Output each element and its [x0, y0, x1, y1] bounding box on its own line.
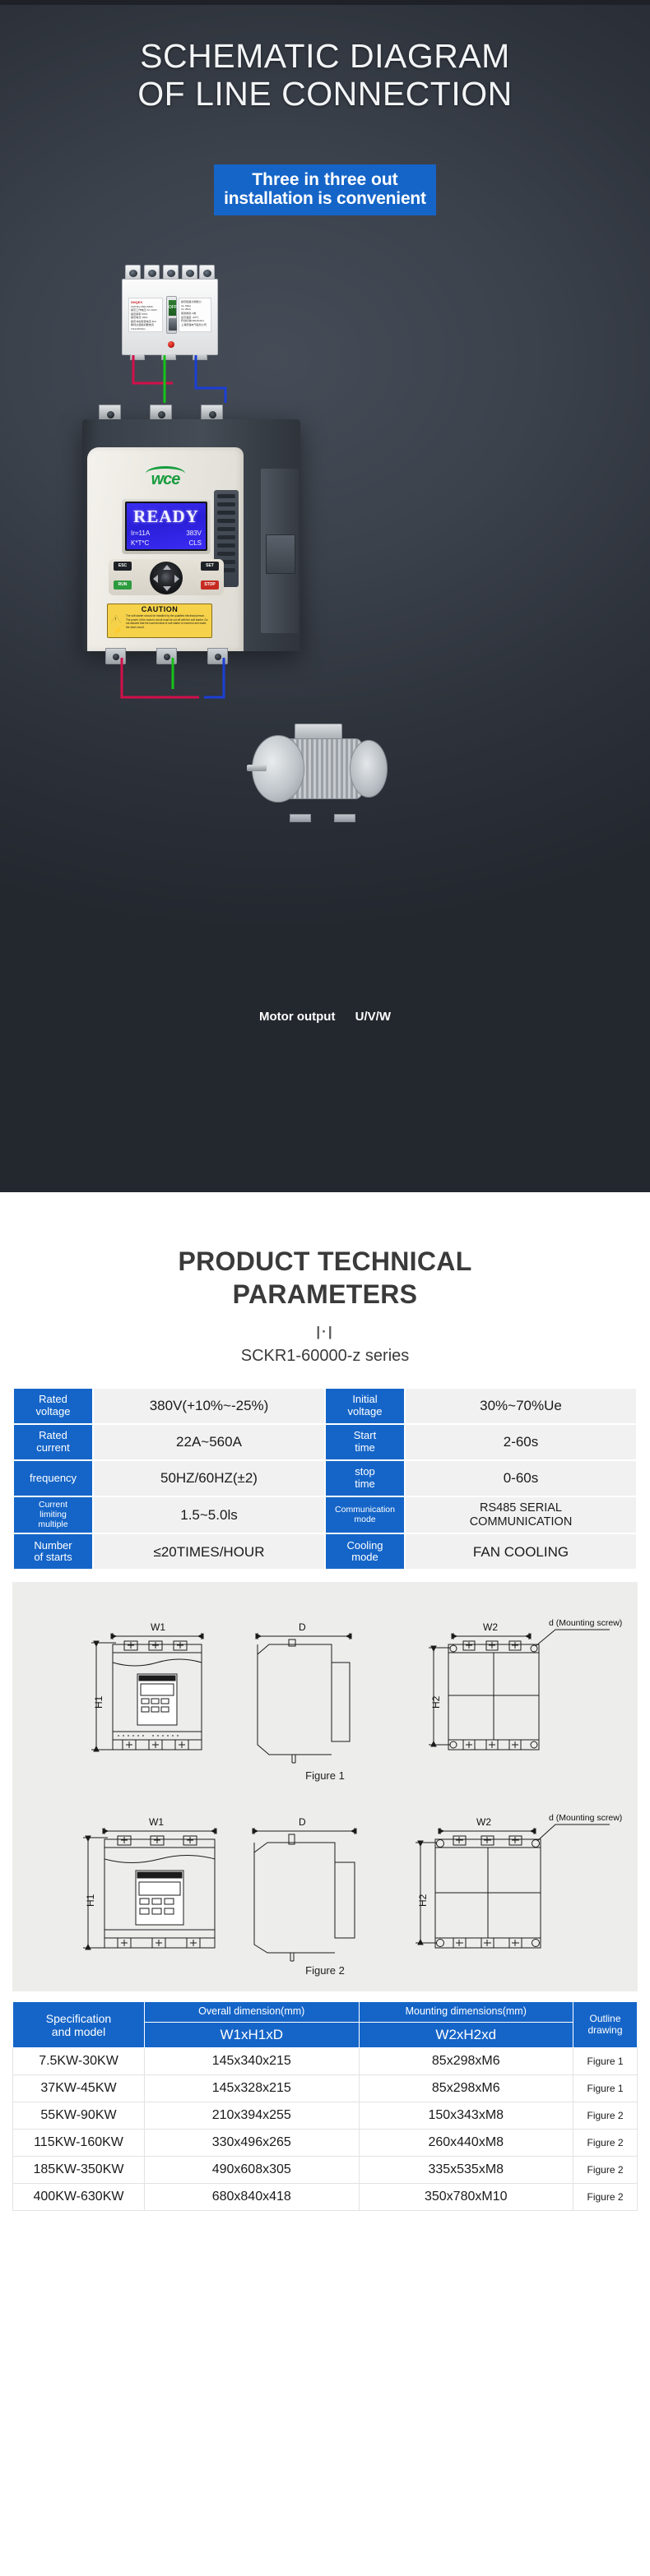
- hero-banner: Three in three out installation is conve…: [214, 164, 436, 215]
- dim-label-d-fig2: D: [299, 1816, 306, 1828]
- cell-model: 55KW-90KW: [13, 2102, 145, 2130]
- arrow-right-icon[interactable]: [174, 575, 179, 583]
- starter-housing: wce READY Ir=11A 383V K*T*C CLS: [82, 419, 300, 651]
- specs-divider-ornament: |·|: [0, 1324, 650, 1340]
- run-button[interactable]: RUN: [114, 580, 132, 590]
- figure-1-caption: Figure 1: [12, 1769, 638, 1782]
- param-row: Ratedvoltage380V(+10%~-25%)Initialvoltag…: [14, 1389, 636, 1423]
- specs-heading-line2: PARAMETERS: [233, 1279, 418, 1309]
- breaker-indicator-light: [168, 341, 174, 348]
- motor-rear-housing: [350, 740, 388, 798]
- figure-2-svg: [12, 1788, 638, 1963]
- table-row: 185KW-350KW490x608x305335x535xM8Figure 2: [13, 2157, 638, 2184]
- header-overall-dimension: Overall dimension(mm): [145, 2002, 360, 2023]
- dimension-table: Specificationand model Overall dimension…: [12, 2001, 638, 2211]
- wire-blue-top: [196, 355, 225, 403]
- param-label-left: Numberof starts: [14, 1534, 92, 1569]
- display-mode: K*T*C: [131, 539, 149, 547]
- dim-label-h1-fig2: H1: [85, 1894, 96, 1907]
- brand-logo: wce: [87, 470, 244, 489]
- cell-figure: Figure 2: [573, 2130, 638, 2157]
- breaker-switch-knob: [169, 318, 177, 331]
- motor-output-caption: Motor output U/V/W: [0, 1010, 650, 1024]
- param-value-right: RS485 SERIALCOMMUNICATION: [406, 1497, 636, 1533]
- specs-heading: PRODUCT TECHNICAL PARAMETERS: [0, 1245, 650, 1311]
- motor-output-label: Motor output: [259, 1010, 335, 1024]
- motor-phase-label: U/V/W: [355, 1010, 391, 1024]
- param-row: frequency50HZ/60HZ(±2)stoptime0-60s: [14, 1461, 636, 1496]
- dimension-table-header-row-1: Specificationand model Overall dimension…: [13, 2002, 638, 2023]
- dimension-table-head: Specificationand model Overall dimension…: [13, 2002, 638, 2048]
- param-label-right: Coolingmode: [326, 1534, 404, 1569]
- param-value-left: 50HZ/60HZ(±2): [94, 1461, 324, 1496]
- dim-label-h2-fig2: H2: [417, 1894, 429, 1907]
- cell-overall: 145x340x215: [145, 2048, 360, 2075]
- logo-arc-icon: [146, 466, 185, 474]
- dim-label-w2-fig1: W2: [483, 1621, 498, 1633]
- cell-figure: Figure 1: [573, 2048, 638, 2075]
- set-button[interactable]: SET: [201, 562, 219, 571]
- param-value-right: 0-60s: [406, 1461, 636, 1496]
- table-row: 37KW-45KW145x328x21585x298xM6Figure 1: [13, 2075, 638, 2102]
- cell-model: 37KW-45KW: [13, 2075, 145, 2102]
- table-row: 115KW-160KW330x496x265260x440xM8Figure 2: [13, 2130, 638, 2157]
- param-row: Currentlimitingmultiple1.5~5.0lsCommunic…: [14, 1497, 636, 1533]
- schematic-hero-section: SCHEMATIC DIAGRAM OF LINE CONNECTION Thr…: [0, 0, 650, 1192]
- header-mounting-sub: W2xH2xd: [359, 2023, 573, 2048]
- param-value-left: 22A~560A: [94, 1425, 324, 1459]
- motor-foot-left: [290, 814, 311, 822]
- cell-figure: Figure 2: [573, 2157, 638, 2184]
- display-voltage: 383V: [186, 530, 202, 537]
- motor-shaft: [247, 765, 267, 771]
- cell-overall: 490x608x305: [145, 2157, 360, 2184]
- table-row: 55KW-90KW210x394x255150x343xM8Figure 2: [13, 2102, 638, 2130]
- param-label-left: Ratedvoltage: [14, 1389, 92, 1423]
- electric-shock-icon: ⚡: [113, 627, 122, 636]
- wiring-starter-to-motor: [115, 658, 304, 732]
- param-value-left: ≤20TIMES/HOUR: [94, 1534, 324, 1569]
- warning-triangle-icon: [111, 615, 121, 623]
- header-overall-sub: W1xH1xD: [145, 2023, 360, 2048]
- arrow-down-icon[interactable]: [163, 586, 171, 591]
- figure-2-caption: Figure 2: [12, 1964, 638, 1977]
- breaker-left-label: SHQEX CMTM1-250L/3300 额定工作电压 AC 400V 额定频…: [128, 298, 163, 332]
- cell-figure: Figure 2: [573, 2102, 638, 2130]
- stop-reset-button[interactable]: STOP: [201, 580, 219, 590]
- cell-model: 115KW-160KW: [13, 2130, 145, 2157]
- wire-red-bottom: [122, 658, 199, 697]
- breaker-switch-state: OFF: [169, 300, 176, 316]
- param-value-right: 30%~70%Ue: [406, 1389, 636, 1423]
- control-keypad[interactable]: ESC SET RUN STOP: [109, 559, 224, 595]
- wire-red-top: [133, 355, 173, 383]
- breaker-body: SHQEX CMTM1-250L/3300 额定工作电压 AC 400V 额定频…: [122, 279, 218, 355]
- hero-top-divider: [0, 0, 650, 5]
- product-series-name: SCKR1-60000-z series: [0, 1347, 650, 1366]
- breaker-rspec-6: 上海奇强电气股份公司: [181, 323, 209, 327]
- param-value-left: 1.5~5.0ls: [94, 1497, 324, 1533]
- dim-label-w2-fig2: W2: [476, 1816, 491, 1828]
- figure-2-drawings: W1 H1 D W2 H2 d (Mounting screw): [12, 1788, 638, 1963]
- lcd-screen-bezel: READY Ir=11A 383V K*T*C CLS: [122, 498, 211, 554]
- param-value-right: FAN COOLING: [406, 1534, 636, 1569]
- breaker-toggle-switch[interactable]: OFF: [166, 296, 177, 334]
- technical-parameters-table: Ratedvoltage380V(+10%~-25%)Initialvoltag…: [12, 1387, 638, 1570]
- param-label-right: stoptime: [326, 1461, 404, 1496]
- technical-parameters-section: PRODUCT TECHNICAL PARAMETERS |·| SCKR1-6…: [0, 1192, 650, 1570]
- outline-drawings-section: W1 H1 D W2 H2 d (Mounting screw) Figure …: [12, 1582, 638, 1991]
- cell-model: 400KW-630KW: [13, 2184, 145, 2211]
- dim-label-w1-fig2: W1: [149, 1816, 164, 1828]
- motor-foot-right: [334, 814, 355, 822]
- motor-terminal-box: [295, 724, 342, 740]
- breaker-spec-6: 10(1±20%)In: [131, 327, 160, 331]
- page-title: SCHEMATIC DIAGRAM OF LINE CONNECTION: [0, 38, 650, 113]
- cell-model: 7.5KW-30KW: [13, 2048, 145, 2075]
- cell-overall: 680x840x418: [145, 2184, 360, 2211]
- figure-1-drawings: W1 H1 D W2 H2 d (Mounting screw): [12, 1593, 638, 1768]
- cell-mounting: 260x440xM8: [359, 2130, 573, 2157]
- table-row: 7.5KW-30KW145x340x21585x298xM6Figure 1: [13, 2048, 638, 2075]
- cell-overall: 210x394x255: [145, 2102, 360, 2130]
- breaker-right-label: 额定短路分断能力 Icu 50kA Ics 25kA 使用类别 A类 最高温度 …: [179, 298, 211, 332]
- hero-banner-line1: Three in three out: [222, 170, 428, 189]
- page-title-line1: SCHEMATIC DIAGRAM: [140, 37, 510, 75]
- induction-motor: [247, 724, 391, 822]
- figure-1-svg: [12, 1593, 638, 1768]
- param-label-right: Starttime: [326, 1425, 404, 1459]
- cell-mounting: 335x535xM8: [359, 2157, 573, 2184]
- param-row: Ratedcurrent22A~560AStarttime2-60s: [14, 1425, 636, 1459]
- starter-side-connector-box: [266, 534, 295, 574]
- param-label-right: Initialvoltage: [326, 1389, 404, 1423]
- circuit-breaker-device: SHQEX CMTM1-250L/3300 额定工作电压 AC 400V 额定频…: [122, 265, 218, 355]
- esc-button[interactable]: ESC: [114, 562, 132, 571]
- dim-label-h1-fig1: H1: [93, 1696, 104, 1709]
- dim-label-screw-fig2: d (Mounting screw): [549, 1813, 622, 1823]
- caution-title: CAUTION: [108, 605, 211, 613]
- cell-figure: Figure 2: [573, 2184, 638, 2211]
- param-label-right: Communicationmode: [326, 1497, 404, 1533]
- header-specification: Specificationand model: [13, 2002, 145, 2048]
- dimension-table-body: 7.5KW-30KW145x340x21585x298xM6Figure 137…: [13, 2048, 638, 2211]
- cell-mounting: 85x298xM6: [359, 2075, 573, 2102]
- arrow-left-icon[interactable]: [153, 575, 158, 583]
- param-label-left: Currentlimitingmultiple: [14, 1497, 92, 1533]
- param-label-left: Ratedcurrent: [14, 1425, 92, 1459]
- wire-blue-bottom: [204, 658, 224, 697]
- cell-mounting: 350x780xM10: [359, 2184, 573, 2211]
- wiring-breaker-to-starter: [123, 355, 263, 406]
- display-status: READY: [127, 506, 206, 527]
- table-row: 400KW-630KW680x840x418350x780xM10Figure …: [13, 2184, 638, 2211]
- dim-label-w1-fig1: W1: [151, 1621, 165, 1633]
- cell-overall: 145x328x215: [145, 2075, 360, 2102]
- lcd-display: READY Ir=11A 383V K*T*C CLS: [125, 502, 207, 551]
- dim-label-screw-fig1: d (Mounting screw): [549, 1618, 622, 1628]
- param-value-left: 380V(+10%~-25%): [94, 1389, 324, 1423]
- specs-heading-line1: PRODUCT TECHNICAL: [178, 1246, 471, 1276]
- cell-overall: 330x496x265: [145, 2130, 360, 2157]
- dim-label-d-fig1: D: [299, 1621, 306, 1633]
- display-state: CLS: [188, 539, 202, 547]
- cell-mounting: 150x343xM8: [359, 2102, 573, 2130]
- page-title-line2: OF LINE CONNECTION: [137, 75, 512, 113]
- cell-figure: Figure 1: [573, 2075, 638, 2102]
- display-current: Ir=11A: [131, 530, 150, 537]
- arrow-up-icon[interactable]: [163, 565, 171, 570]
- cell-mounting: 85x298xM6: [359, 2048, 573, 2075]
- header-mounting-dimensions: Mounting dimensions(mm): [359, 2002, 573, 2023]
- hero-banner-line2: installation is convenient: [222, 189, 428, 208]
- caution-label: CAUTION ⚡ The soft starter should be ins…: [107, 604, 212, 638]
- cell-model: 185KW-350KW: [13, 2157, 145, 2184]
- caution-body: The soft starter should be installed by …: [108, 613, 211, 630]
- param-value-right: 2-60s: [406, 1425, 636, 1459]
- param-label-left: frequency: [14, 1461, 92, 1496]
- header-outline-drawing: Outlinedrawing: [573, 2002, 638, 2048]
- navigation-wheel[interactable]: [150, 562, 183, 594]
- starter-front-panel: wce READY Ir=11A 383V K*T*C CLS: [87, 447, 244, 651]
- soft-starter-device: wce READY Ir=11A 383V K*T*C CLS: [82, 405, 300, 651]
- dim-label-h2-fig1: H2: [430, 1696, 442, 1709]
- param-row: Numberof starts≤20TIMES/HOURCoolingmodeF…: [14, 1534, 636, 1569]
